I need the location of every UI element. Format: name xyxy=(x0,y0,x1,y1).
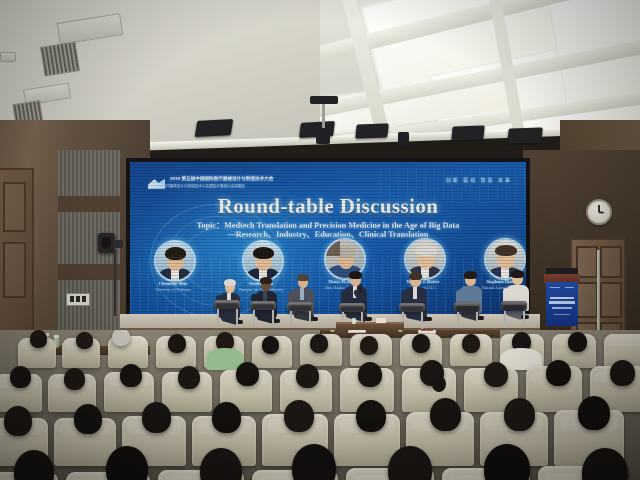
audience-head xyxy=(356,400,386,432)
ceiling-speaker xyxy=(398,132,409,145)
audience-head xyxy=(168,334,186,353)
audience-head xyxy=(178,366,200,389)
audience-head xyxy=(262,336,279,354)
screen-brand-top-right: 创新 驱动 智造 未来 xyxy=(446,177,512,184)
stage-chair xyxy=(250,301,278,327)
screen-title: Round-table Discussion xyxy=(130,194,526,219)
wall-clock xyxy=(586,199,612,225)
name-card xyxy=(348,330,366,333)
stage-chair xyxy=(287,302,315,328)
speaker-cable xyxy=(114,250,116,316)
screen-panelist-portrait xyxy=(154,240,196,282)
audience-head xyxy=(4,406,32,436)
ceiling-projector xyxy=(310,96,338,104)
audience-head xyxy=(120,364,142,387)
water-bottle xyxy=(352,318,356,324)
screen-panelist-portrait xyxy=(242,240,284,282)
handheld-microphone xyxy=(359,284,362,293)
wall-trim-band xyxy=(58,264,120,280)
stage-chair xyxy=(501,301,529,328)
audience-head xyxy=(296,364,319,388)
left-wall-door[interactable] xyxy=(0,168,34,342)
audience-head xyxy=(112,330,130,346)
audience-head xyxy=(578,396,610,430)
audience-head xyxy=(14,450,54,480)
name-card xyxy=(376,318,386,323)
screen-brand-top-left-sub: 中国国际医疗器械设计与制造技术大会暨医疗器械大会组委会 xyxy=(148,184,245,189)
ceiling-smoke-detector xyxy=(0,52,16,62)
stage-light-fixture xyxy=(451,125,484,140)
stage-light-fixture xyxy=(355,123,388,138)
audience-head xyxy=(360,336,378,355)
audience-head xyxy=(504,398,535,431)
door-handle-bar[interactable] xyxy=(597,250,600,338)
screen-panelist-affiliation: University of Oklahoma xyxy=(134,288,212,293)
audience-head xyxy=(74,404,102,434)
audience-head xyxy=(462,334,480,353)
stage-chair xyxy=(214,300,242,326)
audience-head xyxy=(236,362,259,386)
audience-head xyxy=(10,366,31,388)
audience-head xyxy=(30,330,47,348)
screen-topic-line-2: —Research、Industry、Education、Clinical Tr… xyxy=(130,228,526,240)
podium-banner xyxy=(546,282,578,326)
wall-power-outlet[interactable] xyxy=(66,293,90,306)
stage-light-fixture xyxy=(195,119,234,137)
audience-head xyxy=(310,334,328,353)
audience-head xyxy=(142,402,171,433)
stage-light-fixture xyxy=(507,127,543,143)
audience-head xyxy=(610,360,635,386)
stage-chair xyxy=(454,302,482,328)
audience-head xyxy=(358,362,382,387)
audience-hair-bun xyxy=(432,376,446,392)
audience-head xyxy=(546,360,571,386)
speaker-bracket xyxy=(113,240,123,248)
screen-panelist-name: Chuanbin Mao xyxy=(138,281,208,286)
audience-head xyxy=(292,444,336,480)
audience-area xyxy=(0,330,640,480)
audience-head xyxy=(484,362,508,387)
audience-head xyxy=(64,368,85,390)
ceiling-air-vent xyxy=(40,41,80,76)
ceiling-projector xyxy=(316,128,330,144)
audience-head xyxy=(284,400,314,432)
conference-photo-scene: 2019 第五届中国国际医疗器械设计与制造技术大会 中国国际医疗器械设计与制造技… xyxy=(0,0,640,480)
audience-head xyxy=(76,332,93,349)
wall-trim-band xyxy=(58,196,120,212)
audience-head xyxy=(568,332,587,352)
audience-head xyxy=(212,402,241,433)
screen-brand-top-left: 2019 第五届中国国际医疗器械设计与制造技术大会 xyxy=(170,176,273,182)
audience-head xyxy=(412,334,430,353)
audience-head xyxy=(430,398,461,431)
